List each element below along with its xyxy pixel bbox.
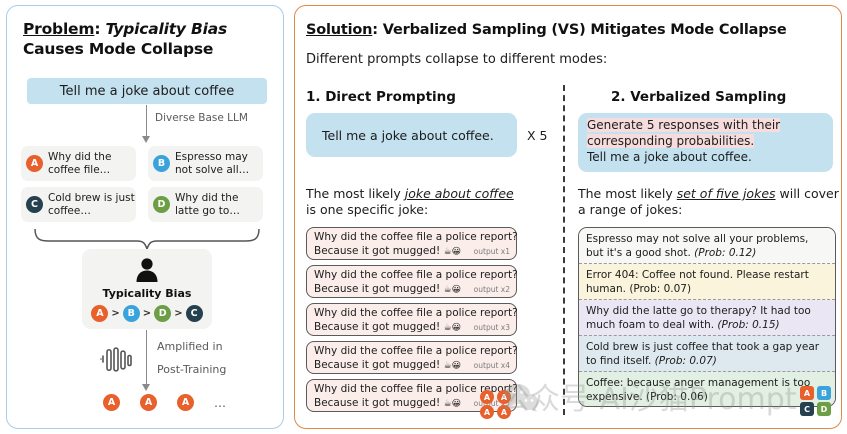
curly-brace-icon [33,228,261,250]
direct-output-2-text2: Because it got mugged! [314,283,440,295]
direct-caption: The most likely joke about coffee is one… [306,186,536,219]
direct-output-3-tag: output x3 [474,323,510,332]
chip-d-label: Why did the latte go to… [175,192,263,218]
direct-output-1-text2: Because it got mugged! [314,245,440,257]
direct-caption-pre: The most likely [306,186,405,201]
vs-output-3-prob: (Prob: 0.15) [717,319,779,331]
direct-output-1-tag: output x1 [474,247,510,256]
direct-output-4-tag: output x4 [474,361,510,370]
vs-badge-d-icon: D [817,402,831,416]
direct-badge-a2-icon: A [497,390,511,404]
direct-prompting-heading: 1. Direct Prompting [306,89,456,105]
direct-output-card-3: Why did the coffee file a police report?… [306,303,517,336]
vs-output-row-1: Espresso may not solve all your problems… [579,228,835,264]
vs-badge-b-icon: B [817,386,831,400]
vs-caption-emphasis: set of five jokes [677,186,776,201]
direct-output-1-line1: Why did the coffee file a police report? [314,231,511,245]
badge-b-icon: B [153,155,170,172]
vs-output-row-5: Coffee: because anger management is too … [579,372,835,407]
typicality-bias-label: Typicality Bias [82,287,212,300]
rank-sep-2: > [143,308,151,319]
coffee-smile-emoji-icon: ☕😀 [444,285,461,295]
rank-badge-d-icon: D [154,305,171,322]
badge-d-icon: D [153,196,170,213]
problem-title-colon: : [94,20,105,38]
final-ellipsis: … [214,396,227,410]
person-icon [134,257,160,283]
problem-panel: Problem: Typicality Bias Causes Mode Col… [6,5,284,429]
direct-output-card-1: Why did the coffee file a police report?… [306,227,517,260]
solution-title: Solution: Verbalized Sampling (VS) Mitig… [306,22,786,38]
problem-title-italic: Typicality Bias [106,20,228,38]
rank-badge-a-icon: A [91,305,108,322]
arrow-shaft-amplified [146,330,147,386]
arrow-head-amplified [142,384,150,391]
badge-a-icon: A [26,155,43,172]
typicality-bias-box: Typicality Bias A > B > D > C [82,249,212,329]
vs-caption: The most likely set of five jokes will c… [578,186,840,219]
direct-badge-a3-icon: A [480,405,494,419]
solution-subtitle: Different prompts collapse to different … [306,52,607,67]
vs-output-2-prob: (Prob: 0.07) [629,283,691,295]
amplified-label-line2: Post-Training [157,363,226,376]
vs-caption-pre: The most likely [578,186,677,201]
rank-badge-c-icon: C [186,305,203,322]
vs-prompt-box: Generate 5 responses with their correspo… [578,113,833,172]
vs-output-1-prob: (Prob: 0.12) [694,247,756,259]
final-badge-a-1-icon: A [103,394,120,411]
arrow-shaft-diverse [146,105,147,138]
vs-output-row-3: Why did the latte go to therapy? It had … [579,300,835,336]
direct-caption-emphasis: joke about coffee [405,186,514,201]
chip-c-label: Cold brew is just coffee… [48,192,136,218]
vs-prompt-highlight-1: Generate 5 responses with their [587,118,780,132]
chip-d: D Why did the latte go to… [148,187,263,222]
direct-output-4-text2: Because it got mugged! [314,359,440,371]
direct-badge-a4-icon: A [497,405,511,419]
solution-title-underlined: Solution [306,22,372,38]
final-badge-a-3-icon: A [177,394,194,411]
coffee-smile-emoji-icon: ☕😀 [444,247,461,257]
vs-badge-c-icon: C [800,402,814,416]
chip-c: C Cold brew is just coffee… [21,187,136,222]
problem-title-line2: Causes Mode Collapse [23,40,213,58]
vs-output-2-text: Error 404: Coffee not found. Please rest… [586,269,809,295]
chip-b: B Espresso may not solve all… [148,146,263,181]
chip-a-label: Why did the coffee file… [48,151,136,177]
amplified-label-line1: Amplified in [157,340,223,353]
direct-caption-post: is one specific joke: [306,202,428,217]
solution-title-rest: Verbalized Sampling (VS) Mitigates Mode … [383,22,787,38]
direct-prompt-box: Tell me a joke about coffee. [306,113,517,157]
vs-output-row-4: Cold brew is just coffee that took a gap… [579,336,835,372]
direct-output-card-2: Why did the coffee file a police report?… [306,265,517,298]
problem-title: Problem: Typicality Bias Causes Mode Col… [23,20,273,60]
problem-prompt-text: Tell me a joke about coffee [60,84,234,99]
final-outputs-row: A A A … [103,394,227,411]
arrow-head-diverse [142,136,150,143]
rank-sep-1: > [111,308,119,319]
problem-prompt-box: Tell me a joke about coffee [27,78,267,104]
vs-output-5-prob: (Prob: 0.06) [646,391,708,403]
vs-badge-a-icon: A [800,386,814,400]
column-divider [563,85,565,415]
direct-prompt-text: Tell me a joke about coffee. [322,128,494,143]
vs-prompt-plain: Tell me a joke about coffee. [587,150,752,164]
rank-sep-3: > [174,308,182,319]
direct-output-2-tag: output x2 [474,285,510,294]
coffee-smile-emoji-icon: ☕😀 [444,361,461,371]
direct-output-card-4: Why did the coffee file a police report?… [306,341,517,374]
chip-b-label: Espresso may not solve all… [175,151,263,177]
coffee-smile-emoji-icon: ☕😀 [444,323,461,333]
badge-c-icon: C [26,196,43,213]
diverse-base-llm-label: Diverse Base LLM [155,112,248,124]
chip-a: A Why did the coffee file… [21,146,136,181]
vs-output-box: Espresso may not solve all your problems… [578,227,836,407]
direct-output-3-line1: Why did the coffee file a police report? [314,307,511,321]
direct-result-badges: A A A A [480,390,513,419]
problem-title-underlined: Problem [23,20,94,38]
solution-title-colon: : [372,22,382,38]
direct-output-2-line1: Why did the coffee file a police report? [314,269,511,283]
final-badge-a-2-icon: A [140,394,157,411]
vs-output-row-2: Error 404: Coffee not found. Please rest… [579,264,835,300]
soundwave-icon [99,346,133,372]
coffee-smile-emoji-icon: ☕😀 [444,399,461,409]
figure-root: Problem: Typicality Bias Causes Mode Col… [0,0,847,434]
direct-prompt-multiplier: X 5 [527,128,548,143]
vs-result-badges: A B C D [800,386,832,416]
direct-output-5-text2: Because it got mugged! [314,397,440,409]
direct-badge-a1-icon: A [480,390,494,404]
typicality-bias-ranking: A > B > D > C [82,305,212,322]
rank-badge-b-icon: B [123,305,140,322]
vs-output-4-prob: (Prob: 0.07) [655,355,717,367]
direct-output-4-line1: Why did the coffee file a police report? [314,345,511,359]
direct-output-3-text2: Because it got mugged! [314,321,440,333]
verbalized-sampling-heading: 2. Verbalized Sampling [611,89,786,105]
vs-prompt-highlight-2: corresponding probabilities. [587,134,754,148]
